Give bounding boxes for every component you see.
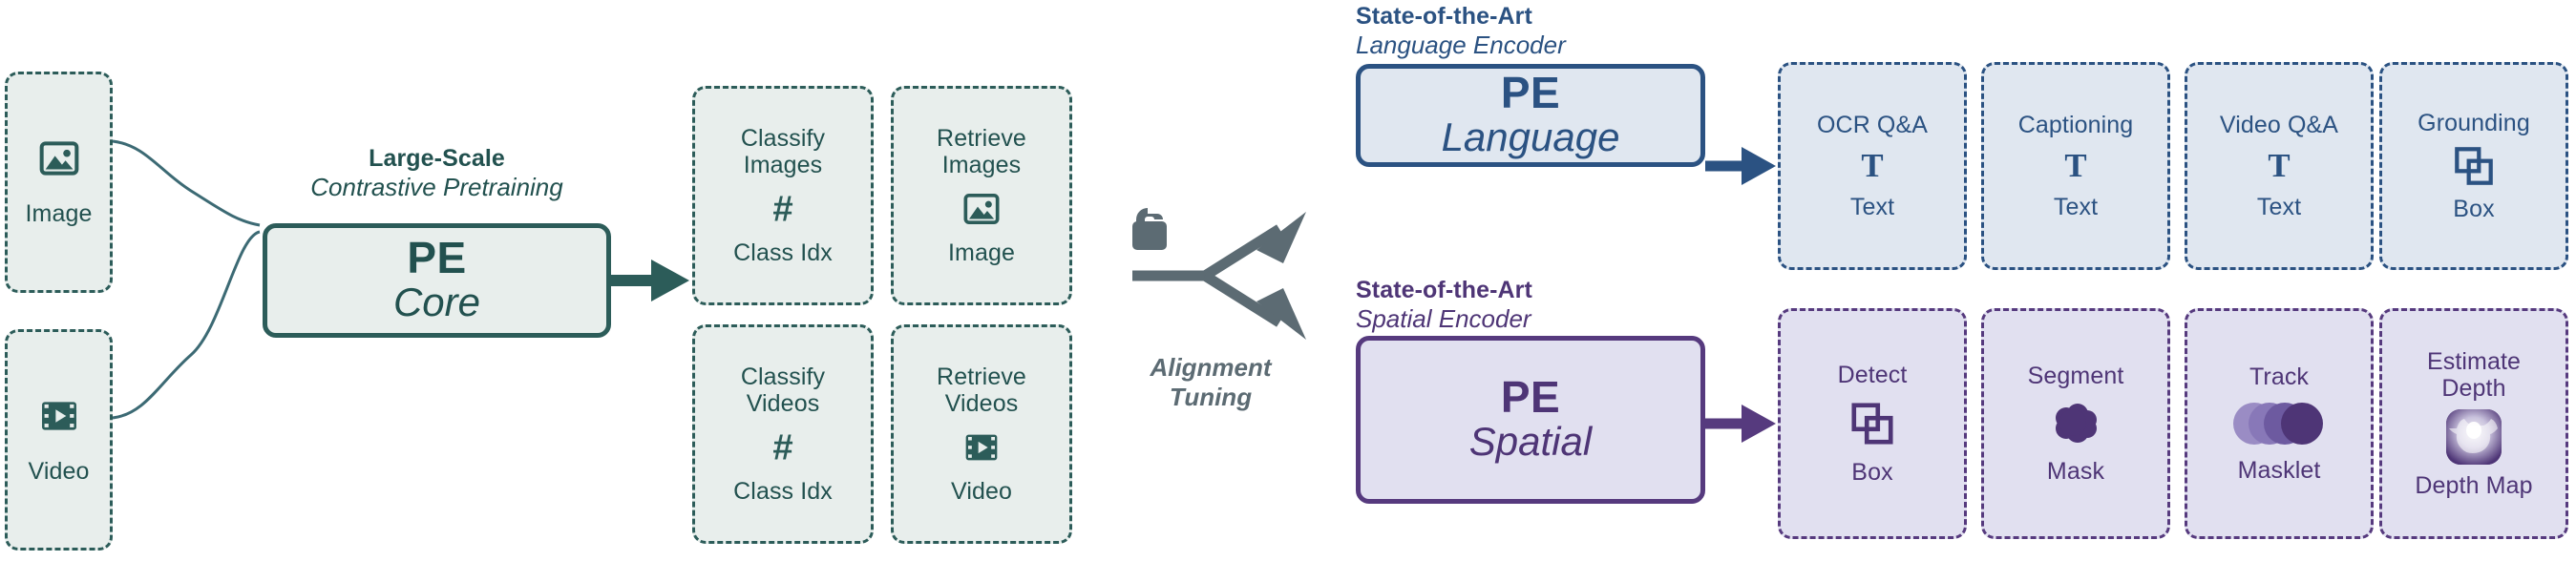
spatial-task-track-label: Track — [2249, 364, 2309, 390]
spatial-branch-heading-line2: Spatial Encoder — [1356, 304, 1757, 333]
arrow-core-to-tasks — [611, 260, 689, 301]
language-task-grounding[interactable]: Grounding Box — [2379, 62, 2568, 270]
input-chip-image[interactable]: Image — [5, 72, 113, 293]
core-task-retrieve-videos-label: Retrieve Videos — [937, 364, 1026, 417]
connector-video-to-core — [113, 232, 260, 418]
alignment-tuning-label: Alignment Tuning — [1115, 353, 1306, 412]
box-icon — [2452, 144, 2496, 188]
depth-map-icon — [2444, 407, 2503, 467]
pe-spatial-box[interactable]: PE Spatial — [1356, 336, 1705, 504]
core-task-classify-videos[interactable]: Classify Videos # Class Idx — [692, 324, 874, 544]
input-chip-video[interactable]: Video — [5, 329, 113, 551]
alignment-tuning-line2: Tuning — [1115, 383, 1306, 412]
pe-language-box[interactable]: PE Language — [1356, 64, 1705, 167]
video-icon — [38, 395, 80, 437]
connector-image-to-core — [113, 141, 260, 225]
alignment-tuning-line1: Alignment — [1115, 353, 1306, 383]
language-task-ocr-qa-output: Text — [1850, 194, 1894, 220]
pretraining-heading-line1: Large-Scale — [263, 145, 611, 173]
core-task-classify-images[interactable]: Classify Images # Class Idx — [692, 86, 874, 305]
spatial-task-estimate-depth[interactable]: Estimate Depth Depth Map — [2379, 308, 2568, 539]
pe-spatial-subtitle: Spatial — [1469, 419, 1592, 464]
spatial-task-detect-output: Box — [1851, 459, 1892, 486]
language-task-captioning[interactable]: Captioning T Text — [1981, 62, 2170, 270]
video-icon — [962, 428, 1001, 467]
language-task-ocr-qa[interactable]: OCR Q&A T Text — [1778, 62, 1967, 270]
pe-spatial-title: PE — [1501, 375, 1560, 419]
spatial-task-track-output: Masklet — [2238, 457, 2321, 484]
core-task-retrieve-images[interactable]: Retrieve Images Image — [891, 86, 1072, 305]
core-task-classify-images-output: Class Idx — [733, 239, 833, 266]
svg-text:T: T — [1861, 147, 1883, 184]
language-branch-heading-line1: State-of-the-Art — [1356, 3, 1757, 31]
svg-text:T: T — [2268, 147, 2290, 184]
core-task-classify-videos-label: Classify Videos — [741, 364, 825, 417]
svg-text:T: T — [2064, 147, 2086, 184]
text-t-icon: T — [1854, 148, 1890, 184]
language-branch-heading-line2: Language Encoder — [1356, 31, 1757, 59]
spatial-task-segment[interactable]: Segment Mask — [1981, 308, 2170, 539]
spatial-task-detect[interactable]: Detect Box — [1778, 308, 1967, 539]
image-icon — [38, 137, 80, 179]
language-task-grounding-output: Box — [2453, 196, 2494, 222]
spatial-task-estimate-depth-label: Estimate Depth — [2427, 348, 2521, 402]
pe-core-title: PE — [407, 236, 466, 280]
arrow-spatial-to-tasks — [1705, 405, 1776, 443]
language-task-video-qa-output: Text — [2257, 194, 2301, 220]
input-chip-image-label: Image — [26, 200, 93, 227]
spatial-task-detect-label: Detect — [1838, 362, 1908, 388]
language-task-video-qa[interactable]: Video Q&A T Text — [2185, 62, 2374, 270]
pe-language-subtitle: Language — [1442, 114, 1620, 159]
core-task-classify-videos-output: Class Idx — [733, 478, 833, 505]
box-icon — [1848, 400, 1896, 447]
pe-language-title: PE — [1501, 71, 1560, 114]
text-t-icon: T — [2261, 148, 2297, 184]
svg-text:#: # — [772, 427, 792, 468]
spatial-task-estimate-depth-output: Depth Map — [2415, 472, 2532, 499]
core-task-retrieve-images-output: Image — [948, 239, 1015, 266]
core-task-classify-images-label: Classify Images — [741, 125, 825, 178]
spatial-branch-heading: State-of-the-Art Spatial Encoder — [1356, 277, 1757, 333]
language-task-grounding-label: Grounding — [2418, 110, 2530, 136]
image-icon — [962, 190, 1001, 228]
pretraining-heading: Large-Scale Contrastive Pretraining — [263, 145, 611, 201]
spatial-task-track[interactable]: Track Masklet — [2185, 308, 2374, 539]
language-task-captioning-output: Text — [2054, 194, 2098, 220]
arrow-language-to-tasks — [1705, 147, 1776, 185]
core-task-retrieve-images-label: Retrieve Images — [937, 125, 1026, 178]
spatial-task-segment-label: Segment — [2028, 363, 2124, 389]
pe-core-box[interactable]: PE Core — [263, 223, 611, 338]
hash-icon: # — [764, 190, 802, 228]
language-branch-heading: State-of-the-Art Language Encoder — [1356, 3, 1757, 59]
language-task-video-qa-label: Video Q&A — [2220, 112, 2338, 138]
language-task-captioning-label: Captioning — [2018, 112, 2134, 138]
core-task-retrieve-videos[interactable]: Retrieve Videos Video — [891, 324, 1072, 544]
text-t-icon: T — [2058, 148, 2094, 184]
alignment-fanout-arrows — [1132, 212, 1306, 340]
unlock-icon — [1132, 208, 1167, 250]
pe-core-subtitle: Core — [393, 280, 480, 324]
masklet-icon — [2233, 402, 2325, 446]
spatial-task-segment-output: Mask — [2047, 458, 2104, 485]
input-chip-video-label: Video — [29, 458, 90, 485]
diagram-canvas: Image Video Large-Scale Contrastive Pret… — [0, 0, 2576, 561]
hash-icon: # — [764, 428, 802, 467]
mask-icon — [2050, 401, 2101, 447]
core-task-retrieve-videos-output: Video — [951, 478, 1012, 505]
pretraining-heading-line2: Contrastive Pretraining — [263, 173, 611, 201]
svg-text:#: # — [772, 189, 792, 230]
language-task-ocr-qa-label: OCR Q&A — [1817, 112, 1928, 138]
spatial-branch-heading-line1: State-of-the-Art — [1356, 277, 1757, 304]
